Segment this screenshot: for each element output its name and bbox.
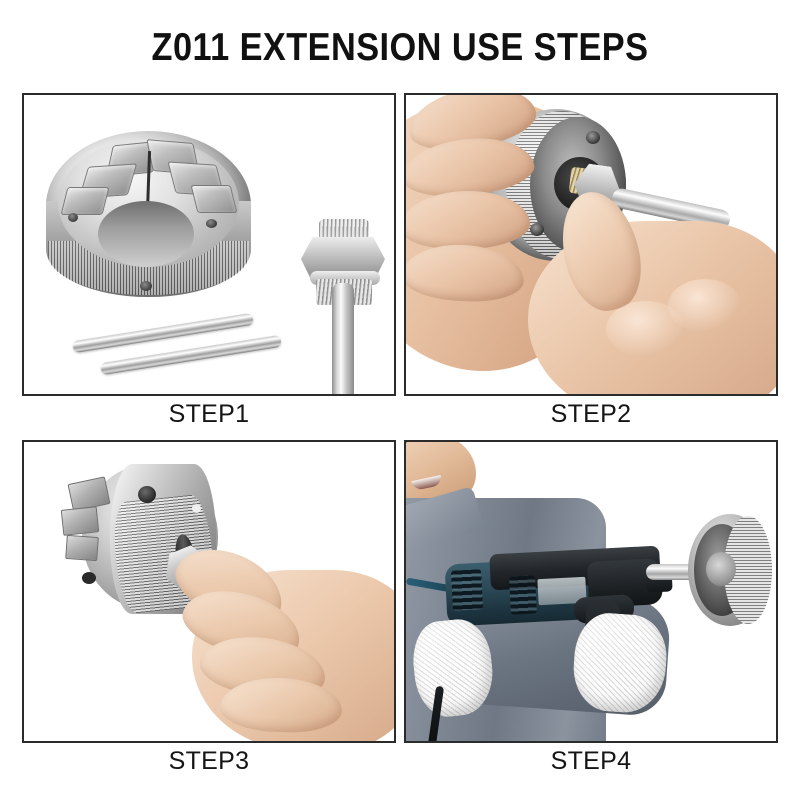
chuck-key-hole	[206, 219, 217, 228]
chuck-jaw	[61, 187, 110, 215]
chuck-key-hole	[82, 572, 96, 584]
step-panel-4[interactable]	[404, 440, 778, 743]
chuck-bore	[98, 201, 194, 267]
step-panel-2[interactable]	[404, 93, 778, 396]
steps-grid: STEP1	[22, 93, 778, 743]
chuck-key-hole	[138, 486, 156, 503]
chuck-key-hole	[192, 504, 201, 513]
step-cell-4: STEP4	[404, 440, 778, 743]
step-cell-1: STEP1	[22, 93, 396, 396]
step-cell-2: STEP2	[404, 93, 778, 396]
step-label-3: STEP3	[22, 747, 396, 776]
step-cell-3: STEP3	[22, 440, 396, 743]
step-panel-1[interactable]	[22, 93, 396, 396]
chuck-bolt-hole	[586, 131, 600, 144]
step-4-illustration	[406, 442, 776, 741]
step-1-illustration	[24, 95, 394, 394]
right-hand-knuckle-highlight	[668, 279, 742, 333]
drill-vents	[509, 575, 537, 614]
step-label-2: STEP2	[404, 400, 778, 429]
poster-page: Z011 EXTENSION USE STEPS	[0, 0, 800, 800]
step-2-illustration	[406, 95, 776, 394]
chuck-jaw	[61, 506, 100, 536]
chuck-center-hub	[706, 552, 736, 586]
page-title: Z011 EXTENSION USE STEPS	[48, 26, 752, 70]
chuck-key-hole	[68, 213, 78, 222]
step-label-4: STEP4	[404, 747, 778, 776]
chuck-bolt-hole	[530, 223, 544, 236]
drill-vents	[451, 569, 483, 611]
chuck-jaw	[65, 535, 99, 561]
chuck-key-hole	[140, 281, 152, 291]
chuck-jaw	[191, 185, 238, 213]
extension-rod-shank	[332, 283, 354, 394]
step-3-illustration	[24, 442, 394, 741]
step-label-1: STEP1	[22, 400, 396, 429]
step-panel-3[interactable]	[22, 440, 396, 743]
